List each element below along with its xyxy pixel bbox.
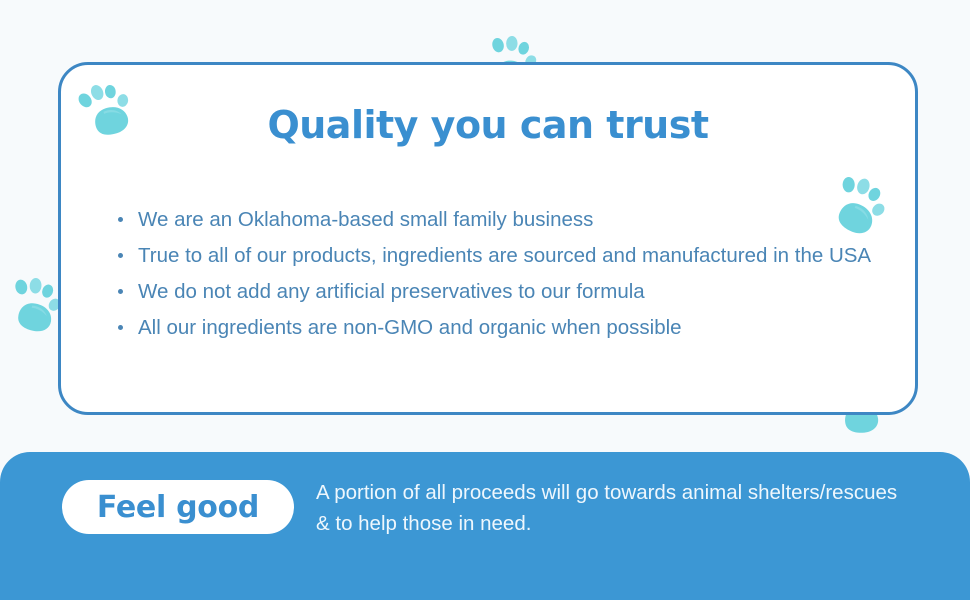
feel-good-pill-label: Feel good <box>97 490 259 525</box>
list-item-label: We are an Oklahoma-based small family bu… <box>138 208 593 231</box>
list-item-label: True to all of our products, ingredients… <box>138 244 871 267</box>
page-title: Quality you can trust <box>61 103 915 147</box>
quality-bullet-list: We are an Oklahoma-based small family bu… <box>115 204 875 348</box>
list-item: We do not add any artificial preservativ… <box>115 276 875 307</box>
banner-message: A portion of all proceeds will go toward… <box>316 477 916 539</box>
feel-good-banner: Feel good A portion of all proceeds will… <box>0 452 970 600</box>
bullet-dot-icon <box>118 289 123 294</box>
list-item-label: All our ingredients are non-GMO and orga… <box>138 316 682 339</box>
infographic-canvas: Quality you can trust We are an Oklahoma… <box>0 0 970 600</box>
list-item: True to all of our products, ingredients… <box>115 240 875 271</box>
feel-good-pill: Feel good <box>62 480 294 534</box>
list-item: We are an Oklahoma-based small family bu… <box>115 204 875 235</box>
bullet-dot-icon <box>118 217 123 222</box>
list-item: All our ingredients are non-GMO and orga… <box>115 312 875 343</box>
bullet-dot-icon <box>118 325 123 330</box>
quality-card: Quality you can trust We are an Oklahoma… <box>58 62 918 415</box>
list-item-label: We do not add any artificial preservativ… <box>138 280 645 303</box>
bullet-dot-icon <box>118 253 123 258</box>
